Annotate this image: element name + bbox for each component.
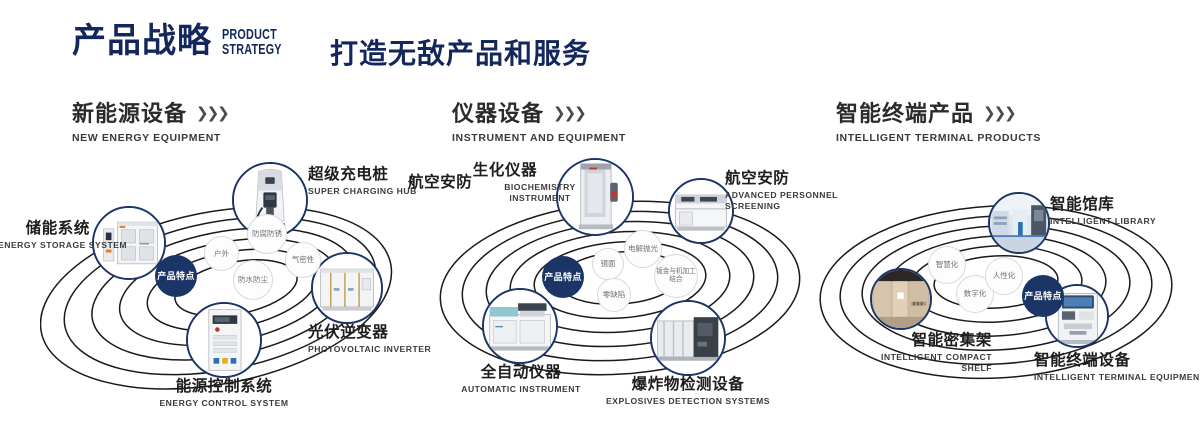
section-heading-instrument: 仪器设备 ❯❯❯ INSTRUMENT AND EQUIPMENT xyxy=(452,96,626,144)
product-strategy-infographic: 产品战略 PRODUCT STRATEGY 打造无敌产品和服务 新能源设备 ❯❯… xyxy=(0,0,1200,422)
section-title-en: INSTRUMENT AND EQUIPMENT xyxy=(452,132,626,144)
feature-bubble-mirror[interactable]: 镜面 xyxy=(592,248,624,280)
page-title-en: PRODUCT STRATEGY xyxy=(222,27,282,57)
label-automatic-instrument: 全自动仪器 AUTOMATIC INSTRUMENT xyxy=(438,364,604,395)
section-title-en: NEW ENERGY EQUIPMENT xyxy=(72,132,228,144)
cluster-intelligent-terminal: 智能馆库 INTELLIGENT LIBRARY 智能密集架 INTELLIGE… xyxy=(800,160,1200,410)
section-title-cn: 新能源设备 xyxy=(72,96,187,128)
label-explosives-detection: 爆炸物检测设备 EXPLOSIVES DETECTION SYSTEMS xyxy=(592,376,784,407)
compact-shelf-icon xyxy=(872,270,930,328)
control-cabinet-icon xyxy=(188,304,260,376)
label-energy-control: 能源控制系统 ENERGY CONTROL SYSTEM xyxy=(118,378,330,409)
explosives-detector-icon xyxy=(652,302,724,374)
section-title-cn: 智能终端产品 xyxy=(836,96,974,128)
headline: 打造无敌产品和服务 xyxy=(330,32,591,72)
label-energy-storage: 储能系统 ENERGY STORAGE SYSTEM xyxy=(0,220,90,251)
label-aviation-security-extra: 航空安防 xyxy=(408,174,472,192)
node-automatic-instrument[interactable] xyxy=(482,288,558,364)
node-compact-shelf[interactable] xyxy=(870,268,932,330)
feature-bubble-smart[interactable]: 智慧化 xyxy=(928,246,966,284)
section-title-cn: 仪器设备 xyxy=(452,96,544,128)
feature-bubble-zero-defect[interactable]: 零缺陷 xyxy=(597,278,631,312)
center-badge-product-features[interactable]: 产品特点 xyxy=(542,256,584,298)
feature-bubble-sheetmetal-machining[interactable]: 钣金与机加工结合 xyxy=(654,254,698,298)
cluster-instrument: 生化仪器 BIOCHEMISTRY INSTRUMENT 航空安防 航空安防 A… xyxy=(420,160,820,410)
label-terminal-equipment: 智能终端设备 INTELLIGENT TERMINAL EQUIPMENT xyxy=(1034,352,1200,383)
cluster-new-energy: 储能系统 ENERGY STORAGE SYSTEM 超级充电桩 SUPER C… xyxy=(40,160,440,410)
section-heading-new-energy: 新能源设备 ❯❯❯ NEW ENERGY EQUIPMENT xyxy=(72,96,228,144)
page-title-en-line1: PRODUCT xyxy=(222,27,282,42)
feature-bubble-electropolishing[interactable]: 电解抛光 xyxy=(624,230,662,268)
center-badge-product-features[interactable]: 产品特点 xyxy=(1022,275,1064,317)
label-intelligent-library: 智能馆库 INTELLIGENT LIBRARY xyxy=(1050,196,1190,227)
screening-machine-icon xyxy=(670,180,732,242)
page-title: 产品战略 xyxy=(72,24,212,60)
chevron-right-icon: ❯❯❯ xyxy=(983,104,1015,122)
page-title-en-line2: STRATEGY xyxy=(222,42,282,57)
feature-bubble-waterproof[interactable]: 防水防尘 xyxy=(233,260,273,300)
section-heading-intelligent-terminal: 智能终端产品 ❯❯❯ INTELLIGENT TERMINAL PRODUCTS xyxy=(836,96,1041,144)
library-room-icon xyxy=(990,194,1048,252)
node-pv-inverter[interactable] xyxy=(311,252,383,324)
center-badge-product-features[interactable]: 产品特点 xyxy=(155,255,197,297)
feature-bubble-airtight[interactable]: 气密性 xyxy=(285,242,321,278)
automatic-analyzer-icon xyxy=(484,290,556,362)
chevron-right-icon: ❯❯❯ xyxy=(553,104,585,122)
section-title-en: INTELLIGENT TERMINAL PRODUCTS xyxy=(836,132,1041,144)
node-intelligent-library[interactable] xyxy=(988,192,1050,254)
pv-inverter-cabinet-icon xyxy=(313,254,381,322)
feature-bubble-anticorrosion[interactable]: 防腐防锈 xyxy=(247,214,287,254)
node-explosives-detection[interactable] xyxy=(650,300,726,376)
page-header: 产品战略 PRODUCT STRATEGY xyxy=(72,24,305,60)
node-energy-control[interactable] xyxy=(186,302,262,378)
chevron-right-icon: ❯❯❯ xyxy=(196,104,228,122)
feature-bubble-outdoor[interactable]: 户外 xyxy=(204,236,239,271)
feature-bubble-humanized[interactable]: 人性化 xyxy=(985,257,1023,295)
label-compact-shelf: 智能密集架 INTELLIGENT COMPACT SHELF xyxy=(820,332,992,374)
